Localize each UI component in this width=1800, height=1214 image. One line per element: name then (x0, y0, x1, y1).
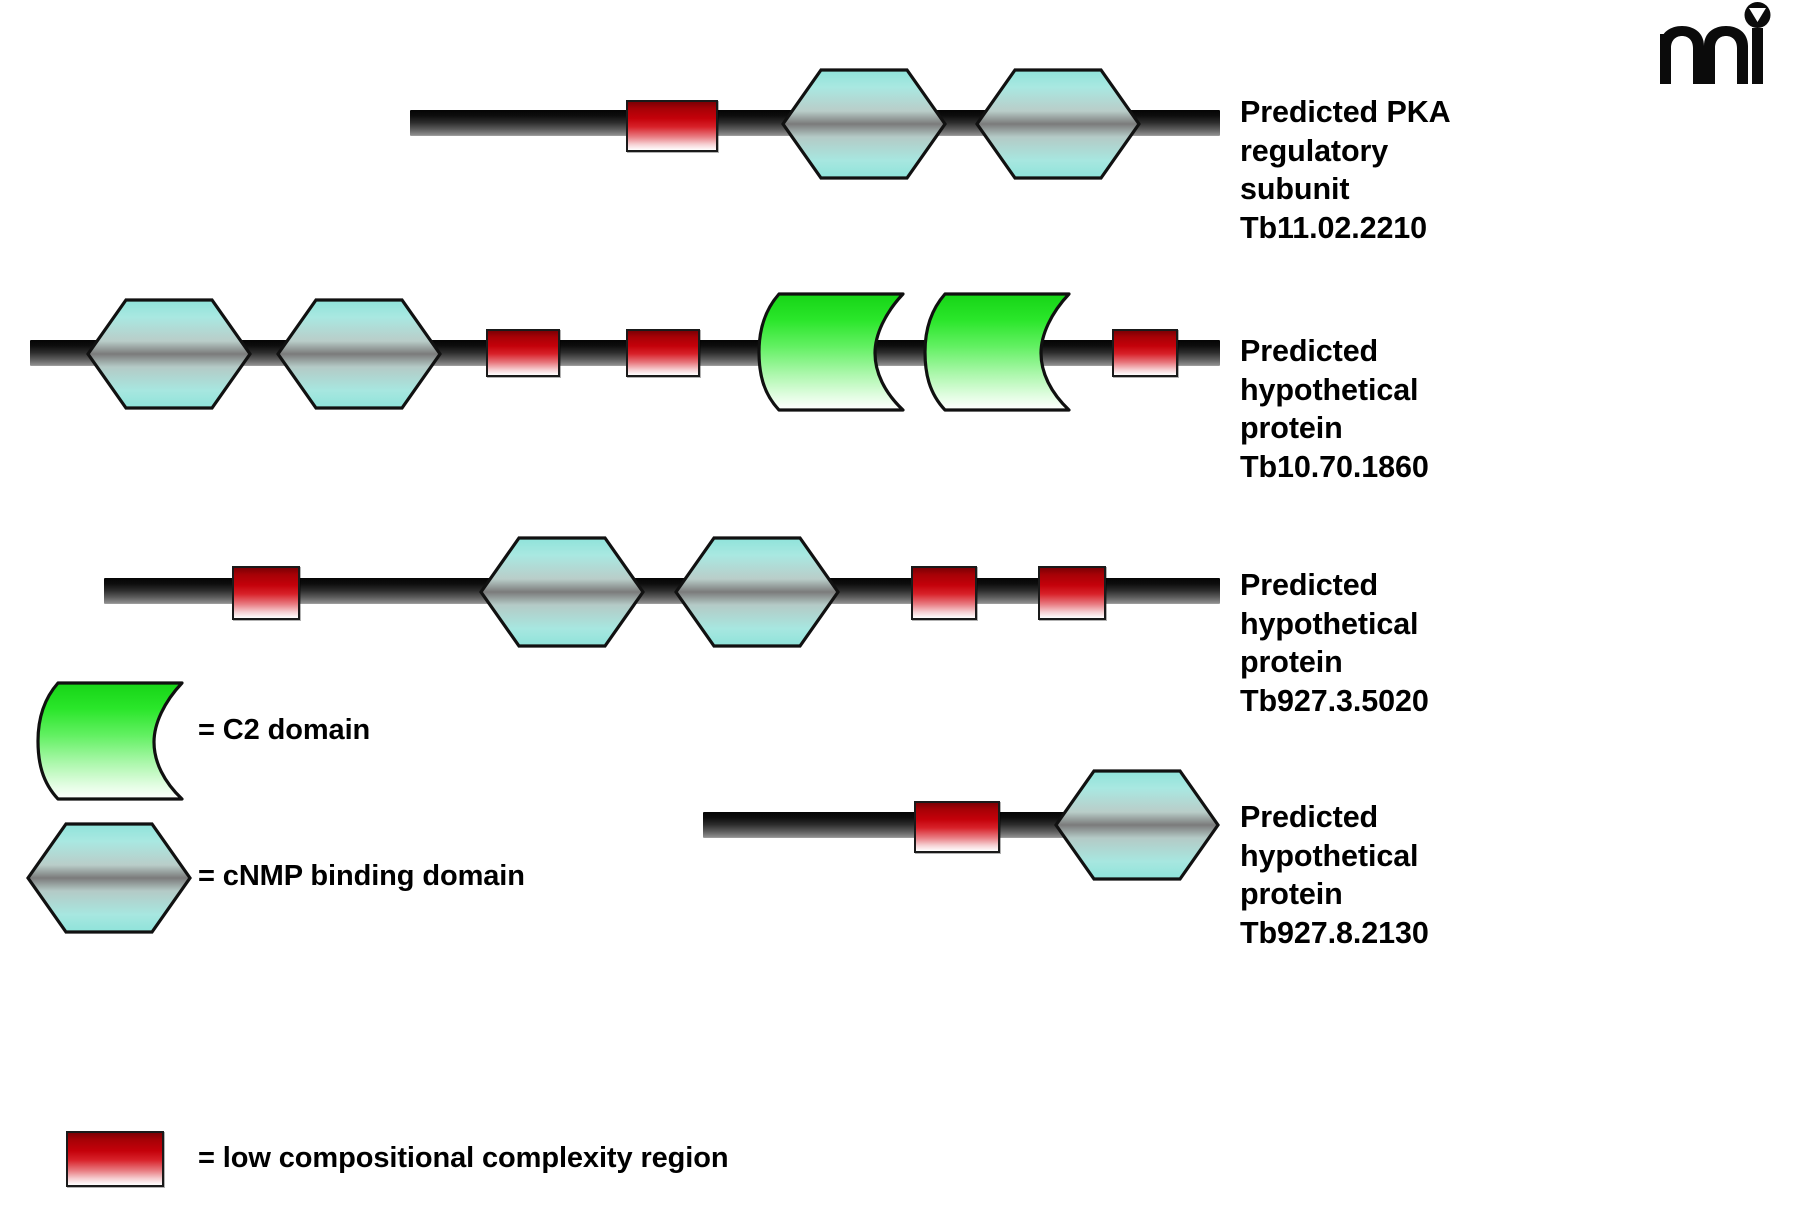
low-complexity-region (911, 566, 977, 620)
cnmp-binding-domain-icon (26, 822, 192, 934)
c2-domain (757, 291, 905, 413)
c2-domain (923, 291, 1071, 413)
cnmp-binding-domain (86, 298, 252, 410)
low-complexity-region (914, 801, 1000, 853)
cnmp-binding-domain (674, 536, 840, 648)
low-complexity-region (626, 329, 700, 377)
protein-label-tb11-02-2210: Predicted PKA regulatory subunit Tb11.02… (1240, 93, 1451, 247)
legend-label-lcr: = low compositional complexity region (198, 1143, 728, 1173)
low-complexity-region (1038, 566, 1106, 620)
cnmp-binding-domain (975, 68, 1141, 180)
diagram-canvas: Predicted PKA regulatory subunit Tb11.02… (0, 0, 1800, 1214)
low-complexity-region (626, 100, 718, 152)
cnmp-binding-domain (479, 536, 645, 648)
legend-label-c2: = C2 domain (198, 715, 370, 745)
protein-label-tb927-3-5020: Predicted hypothetical protein Tb927.3.5… (1240, 566, 1429, 720)
cnmp-binding-domain (1054, 769, 1220, 881)
low-complexity-region (232, 566, 300, 620)
low-complexity-region-icon (66, 1131, 164, 1187)
low-complexity-region (486, 329, 560, 377)
cnmp-binding-domain (276, 298, 442, 410)
protein-label-tb10-70-1860: Predicted hypothetical protein Tb10.70.1… (1240, 332, 1429, 486)
mi-logo (1656, 2, 1786, 88)
c2-domain-icon (36, 680, 184, 802)
cnmp-binding-domain (781, 68, 947, 180)
legend-label-cnmp: = cNMP binding domain (198, 861, 525, 891)
low-complexity-region (1112, 329, 1178, 377)
protein-label-tb927-8-2130: Predicted hypothetical protein Tb927.8.2… (1240, 798, 1429, 952)
